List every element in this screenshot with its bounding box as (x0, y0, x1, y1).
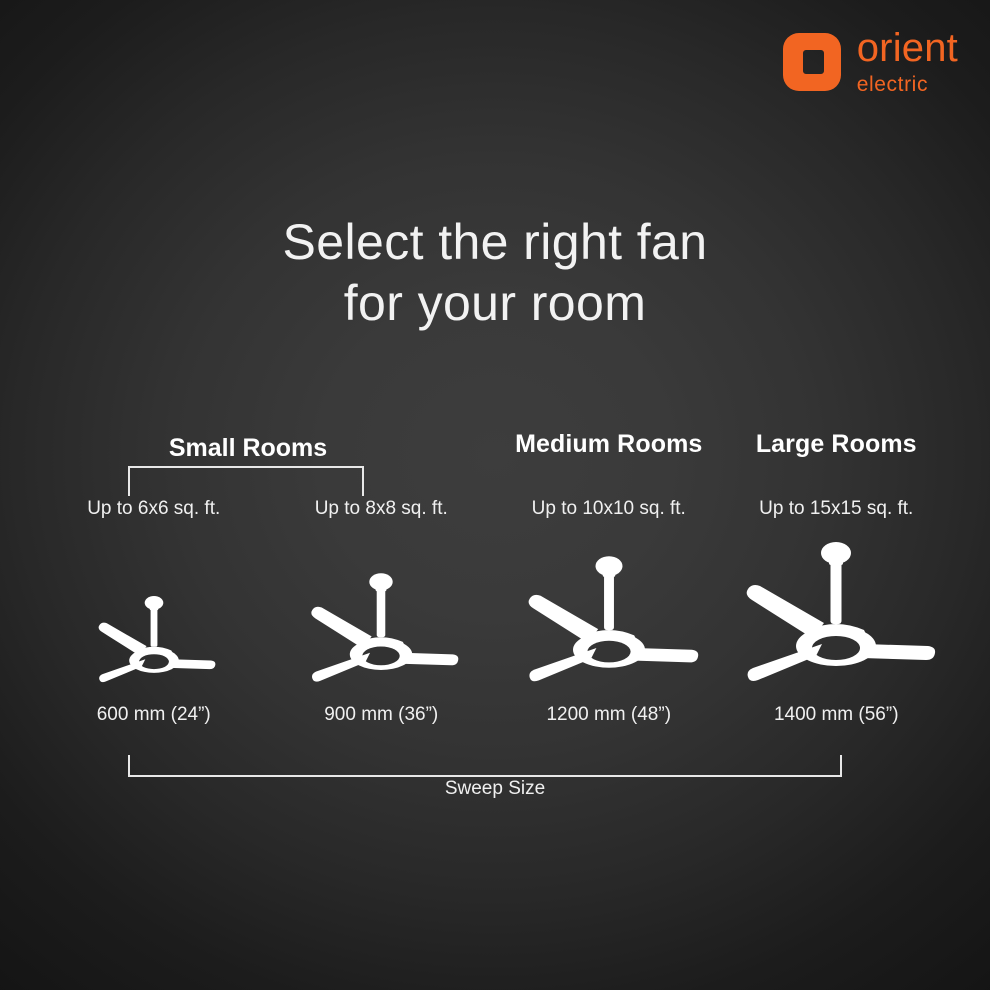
room-area-label: Up to 8x8 sq. ft. (315, 498, 448, 520)
ceiling-fan-icon (519, 549, 699, 684)
orient-logo-mark-icon (781, 31, 843, 93)
fan-column-1200mm: Medium Rooms Up to 10x10 sq. ft. (495, 430, 723, 750)
fan-illustration-wrap-1 (92, 534, 216, 684)
sweep-size-label: 900 mm (36”) (324, 704, 438, 726)
sweep-size-bracket (128, 755, 842, 777)
room-area-label: Up to 15x15 sq. ft. (759, 498, 913, 520)
fan-illustration-wrap-3 (519, 534, 699, 684)
brand-wordmark: orient electric (857, 28, 958, 95)
brand-name: orient (857, 28, 958, 68)
fan-illustration-wrap-4 (736, 534, 936, 684)
fan-column-1400mm: Large Rooms Up to 15x15 sq. ft. (723, 430, 951, 750)
ceiling-fan-icon (92, 591, 216, 684)
sweep-size-label: 1400 mm (56”) (774, 704, 899, 726)
sweep-size-label: 1200 mm (48”) (546, 704, 671, 726)
category-title-medium: Medium Rooms (515, 430, 702, 470)
brand-tagline: electric (857, 74, 928, 95)
category-title-small-wrap: Small Rooms (0, 434, 496, 463)
sweep-size-axis-label: Sweep Size (0, 778, 990, 800)
small-rooms-bracket (128, 466, 364, 496)
page-title-line-2: for your room (0, 273, 990, 334)
sweep-size-label: 600 mm (24”) (97, 704, 211, 726)
poster: orient electric Select the right fan for… (0, 0, 990, 990)
room-area-label: Up to 6x6 sq. ft. (87, 498, 220, 520)
ceiling-fan-icon (303, 567, 459, 684)
page-title-line-1: Select the right fan (0, 212, 990, 273)
room-area-label: Up to 10x10 sq. ft. (532, 498, 686, 520)
fan-illustration-wrap-2 (303, 534, 459, 684)
category-title-small: Small Rooms (169, 434, 327, 462)
ceiling-fan-icon (736, 534, 936, 684)
brand-logo: orient electric (781, 28, 958, 95)
category-title-large: Large Rooms (756, 430, 917, 470)
page-title: Select the right fan for your room (0, 212, 990, 334)
